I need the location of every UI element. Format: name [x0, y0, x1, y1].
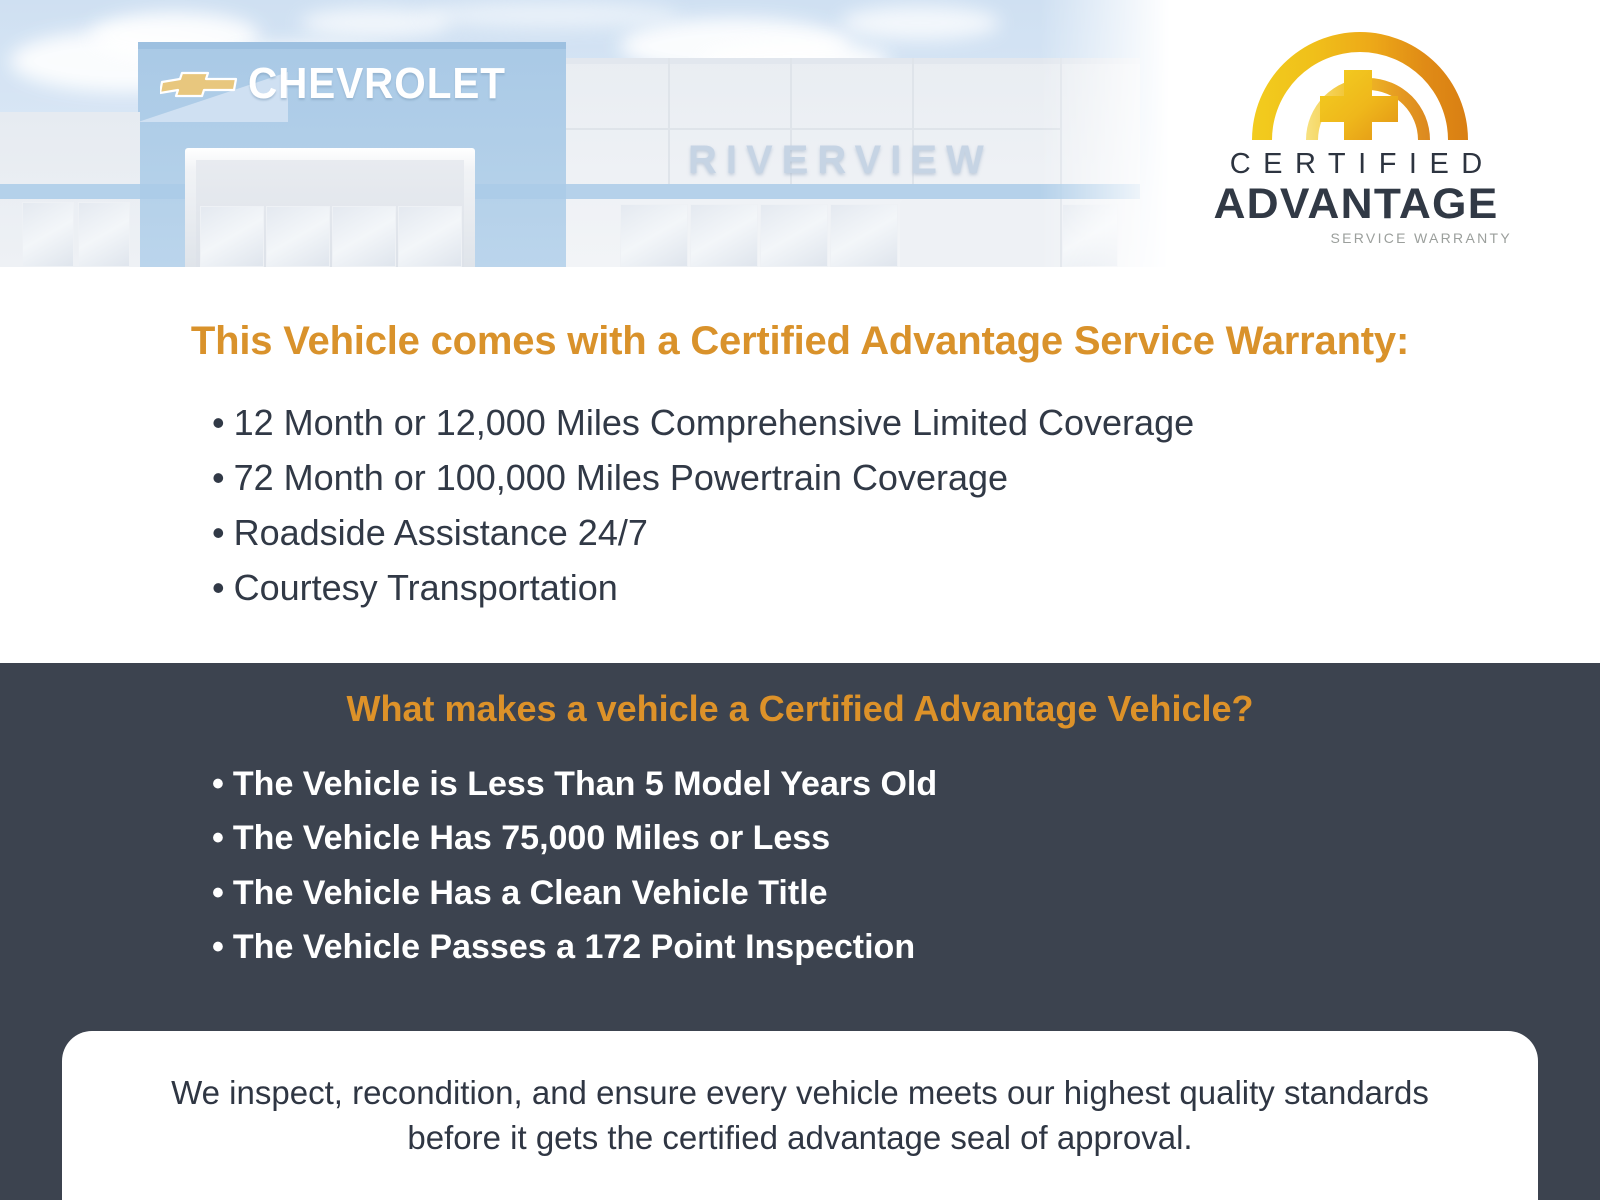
list-item: •Courtesy Transportation: [212, 560, 1194, 615]
window-pane: [760, 204, 828, 267]
window-pane: [200, 206, 264, 267]
window-pane: [620, 204, 688, 267]
logo-advantage-text: ADVANTAGE: [1191, 183, 1521, 226]
qualification-criteria-list: •The Vehicle is Less Than 5 Model Years …: [212, 757, 937, 975]
list-item-label: Roadside Assistance 24/7: [234, 512, 648, 553]
promise-card: We inspect, recondition, and ensure ever…: [62, 1031, 1538, 1200]
window-pane: [398, 206, 462, 267]
list-item-label: The Vehicle Has a Clean Vehicle Title: [233, 874, 828, 912]
list-item-label: The Vehicle is Less Than 5 Model Years O…: [233, 765, 937, 803]
window-pane: [22, 202, 74, 267]
list-item: •The Vehicle is Less Than 5 Model Years …: [212, 757, 937, 811]
header-banner: CHEVROLET RIVERVIEW: [0, 0, 1600, 267]
riverview-wordmark: RIVERVIEW: [688, 140, 993, 180]
list-item-label: The Vehicle Has 75,000 Miles or Less: [233, 819, 830, 857]
bullet-icon: •: [212, 450, 225, 505]
warranty-benefits-list: •12 Month or 12,000 Miles Comprehensive …: [212, 395, 1194, 615]
window-pane: [332, 206, 396, 267]
cloud-shape: [420, 2, 680, 28]
bullet-icon: •: [212, 505, 225, 560]
list-item: •The Vehicle Has 75,000 Miles or Less: [212, 811, 937, 865]
list-item-label: 12 Month or 12,000 Miles Comprehensive L…: [234, 402, 1195, 443]
bullet-icon: •: [212, 395, 225, 450]
logo-certified-text: CERTIFIED: [1196, 150, 1516, 179]
facade-top-edge: [138, 42, 566, 49]
bullet-icon: •: [212, 560, 225, 615]
blue-accent-band: [0, 184, 1140, 199]
certified-advantage-flyer: CHEVROLET RIVERVIEW: [0, 0, 1600, 1200]
qualification-section: What makes a vehicle a Certified Advanta…: [0, 663, 1600, 1200]
window-pane: [266, 206, 330, 267]
list-item-label: 72 Month or 100,000 Miles Powertrain Cov…: [234, 457, 1008, 498]
logo-service-warranty-text: SERVICE WARRANTY: [1196, 231, 1516, 245]
showroom-roof-edge: [556, 58, 1140, 64]
certified-advantage-logo: CERTIFIED ADVANTAGE SERVICE WARRANTY: [1196, 18, 1516, 250]
cloud-shape: [840, 6, 1000, 40]
bullet-icon: •: [212, 811, 224, 865]
list-item-label: The Vehicle Passes a 172 Point Inspectio…: [233, 928, 915, 966]
list-item: •Roadside Assistance 24/7: [212, 505, 1194, 560]
list-item: •72 Month or 100,000 Miles Powertrain Co…: [212, 450, 1194, 505]
warranty-section: This Vehicle comes with a Certified Adva…: [0, 267, 1600, 663]
warranty-heading: This Vehicle comes with a Certified Adva…: [0, 319, 1600, 363]
list-item: •The Vehicle Passes a 172 Point Inspecti…: [212, 920, 937, 974]
entrance-canopy: [900, 200, 1060, 267]
list-item: •The Vehicle Has a Clean Vehicle Title: [212, 866, 937, 920]
window-pane: [830, 204, 898, 267]
window-pane: [690, 204, 758, 267]
list-item-label: Courtesy Transportation: [234, 567, 618, 608]
bullet-icon: •: [212, 866, 224, 920]
arc-plus-icon: [1236, 18, 1484, 140]
list-item: •12 Month or 12,000 Miles Comprehensive …: [212, 395, 1194, 450]
window-pane: [78, 202, 130, 267]
bullet-icon: •: [212, 920, 224, 974]
chevrolet-wordmark: CHEVROLET: [248, 62, 506, 106]
bullet-icon: •: [212, 757, 224, 811]
panel-seam: [556, 128, 1062, 130]
panel-seam: [668, 58, 670, 184]
chevrolet-bowtie-icon: [160, 68, 238, 100]
chevrolet-sign: CHEVROLET: [160, 62, 528, 106]
qualification-heading: What makes a vehicle a Certified Advanta…: [0, 689, 1600, 729]
dealership-photo: CHEVROLET RIVERVIEW: [0, 0, 1180, 267]
promise-text: We inspect, recondition, and ensure ever…: [125, 1071, 1475, 1160]
window-pane: [1062, 204, 1118, 267]
